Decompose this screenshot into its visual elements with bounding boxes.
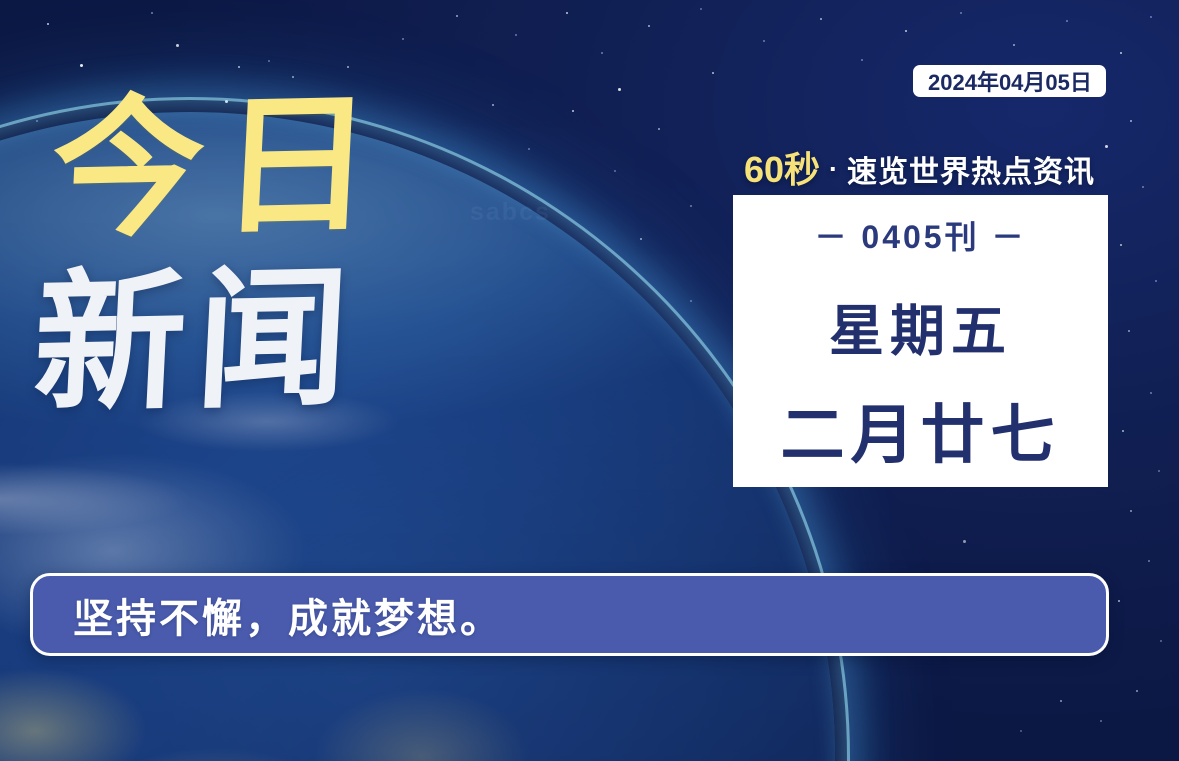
slogan-text: 坚持不懈，成就梦想。 [73, 586, 503, 644]
card-lunar-date: 二月廿七 [781, 384, 1061, 476]
card-weekday: 星期五 [829, 286, 1012, 366]
background-watermark: sabcs [470, 198, 551, 227]
tagline-highlight: 60秒 [744, 141, 820, 193]
slogan-banner: 坚持不懈，成就梦想。 [30, 573, 1109, 656]
card-issue-number: － 0405刊 － [815, 212, 1027, 258]
date-badge: 2024年04月05日 [913, 65, 1106, 97]
date-badge-label: 2024年04月05日 [928, 65, 1092, 97]
title-line-xinwen: 新闻 [30, 263, 392, 420]
title-line-jinri: 今日 [48, 89, 392, 246]
poster-title: 今日 新闻 [52, 96, 388, 420]
poster-canvas: sabcs 今日 新闻 2024年04月05日 60秒 · 速览世界热点资讯 －… [0, 0, 1179, 761]
starfield-layer-bright [0, 0, 3, 3]
date-card: － 0405刊 － 星期五 二月廿七 [733, 195, 1108, 487]
tagline-text: 速览世界热点资讯 [847, 147, 1095, 191]
tagline: 60秒 · 速览世界热点资讯 [744, 141, 1095, 193]
tagline-separator-dot: · [829, 154, 838, 185]
